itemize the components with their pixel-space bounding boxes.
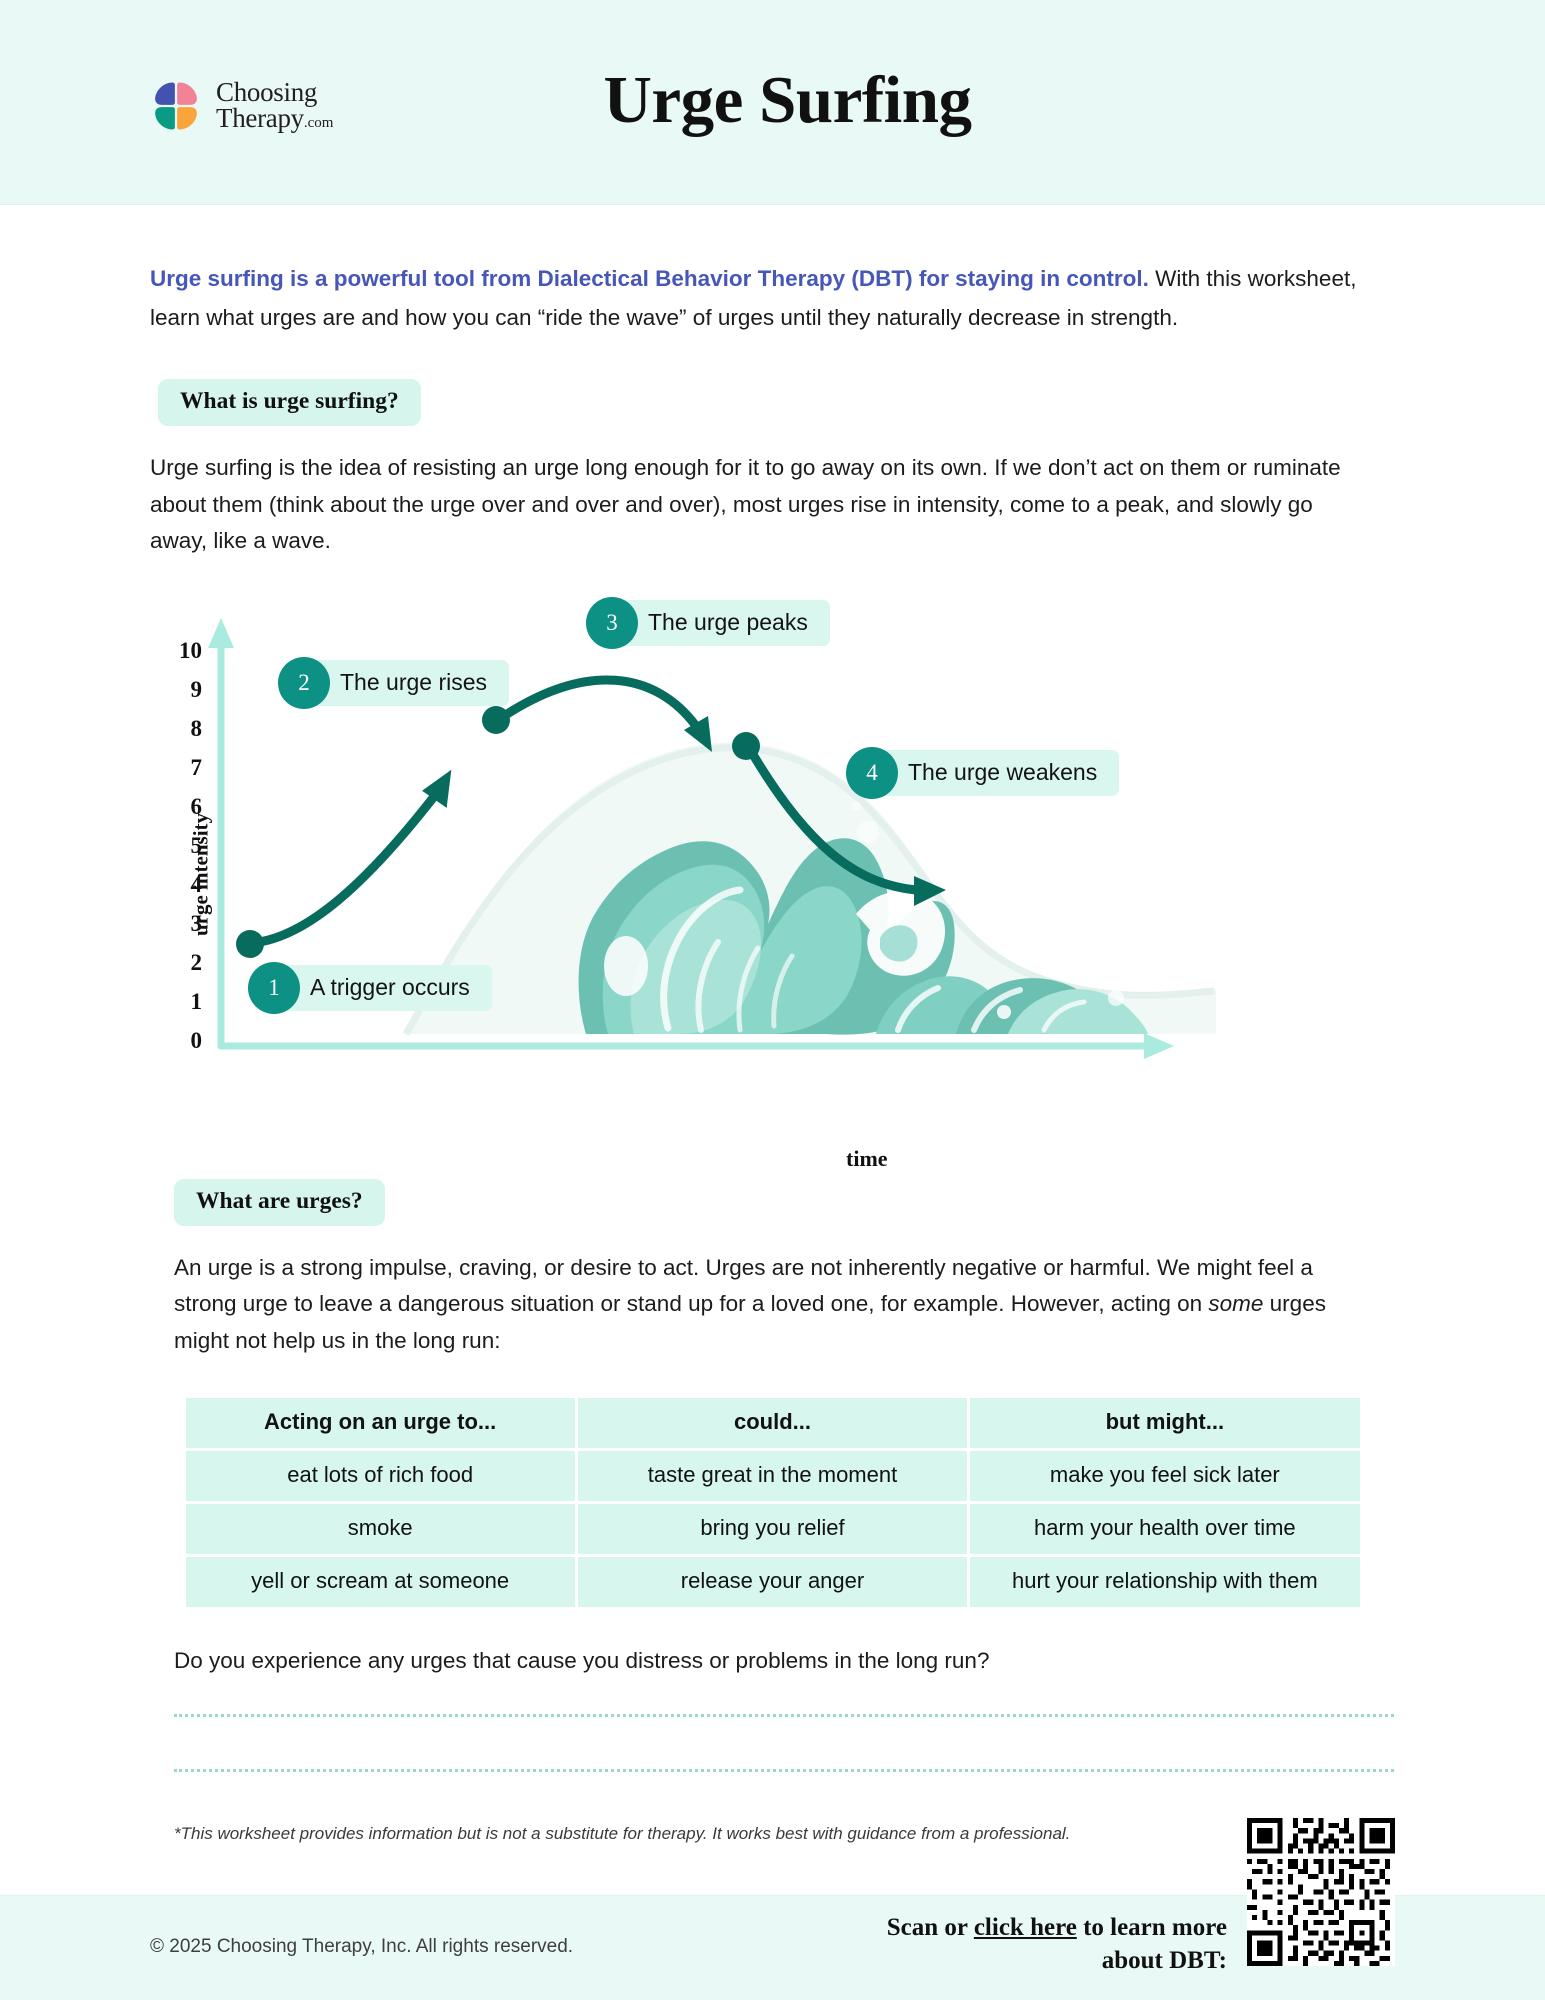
table-cell: smoke xyxy=(186,1504,575,1554)
intro-paragraph: Urge surfing is a powerful tool from Dia… xyxy=(150,260,1395,337)
urges-table: Acting on an urge to... could... but mig… xyxy=(183,1395,1363,1610)
table-row: smoke bring you relief harm your health … xyxy=(186,1504,1360,1554)
page-title: Urge Surfing xyxy=(0,62,1545,139)
x-axis-label: time xyxy=(846,1146,888,1172)
callout-step-3: 3 The urge peaks xyxy=(586,600,830,646)
write-line-1[interactable] xyxy=(174,1714,1394,1717)
step-badge-4: 4 xyxy=(846,747,898,799)
section1-body: Urge surfing is the idea of resisting an… xyxy=(150,450,1365,559)
qr-code[interactable] xyxy=(1247,1818,1395,1966)
table-cell: eat lots of rich food xyxy=(186,1451,575,1501)
table-cell: release your anger xyxy=(578,1557,967,1607)
y-tick-0: 0 xyxy=(166,1028,202,1054)
y-axis-label: urge intensity xyxy=(189,774,214,974)
table-cell: hurt your relationship with them xyxy=(970,1557,1359,1607)
callout-step-4: 4 The urge weakens xyxy=(846,750,1119,796)
step-label-2: The urge rises xyxy=(300,660,509,706)
scan-prefix: Scan or xyxy=(887,1914,974,1941)
section2-body: An urge is a strong impulse, craving, or… xyxy=(174,1250,1374,1359)
table-cell: harm your health over time xyxy=(970,1504,1359,1554)
trigger-point-dot xyxy=(236,930,264,958)
table-row: yell or scream at someone release your a… xyxy=(186,1557,1360,1607)
callout-step-2: 2 The urge rises xyxy=(278,660,509,706)
table-header-row: Acting on an urge to... could... but mig… xyxy=(186,1398,1360,1448)
rise-point-dot xyxy=(482,706,510,734)
callout-step-1: 1 A trigger occurs xyxy=(248,965,492,1011)
step-label-4: The urge weakens xyxy=(868,750,1119,796)
y-tick-1: 1 xyxy=(166,989,202,1015)
scan-suffix: about DBT: xyxy=(1102,1947,1227,1974)
write-in-lines[interactable] xyxy=(174,1714,1395,1772)
table-cell: make you feel sick later xyxy=(970,1451,1359,1501)
table-header-acting: Acting on an urge to... xyxy=(186,1398,575,1448)
y-tick-10: 10 xyxy=(166,638,202,664)
section-heading-what-are-urges: What are urges? xyxy=(174,1179,385,1226)
write-line-2[interactable] xyxy=(174,1769,1394,1772)
step-badge-3: 3 xyxy=(586,597,638,649)
intro-lead: Urge surfing is a powerful tool from Dia… xyxy=(150,266,1149,291)
step-label-3: The urge peaks xyxy=(608,600,830,646)
urge-curve-arrows xyxy=(252,794,436,943)
urge-wave-chart: 10 9 8 7 6 5 4 3 2 1 0 urge intensity ti… xyxy=(156,594,1395,1179)
step-badge-2: 2 xyxy=(278,657,330,709)
y-axis-arrowhead xyxy=(208,618,234,648)
scan-cta: Scan or click here to learn more about D… xyxy=(887,1912,1227,1977)
scan-middle: to learn more xyxy=(1077,1914,1227,1941)
table-header-but-might: but might... xyxy=(970,1398,1359,1448)
click-here-link[interactable]: click here xyxy=(974,1914,1077,1941)
disclaimer-text: *This worksheet provides information but… xyxy=(174,1824,1264,1844)
table-header-could: could... xyxy=(578,1398,967,1448)
step-badge-1: 1 xyxy=(248,962,300,1014)
reflection-question: Do you experience any urges that cause y… xyxy=(174,1648,1395,1674)
table-cell: yell or scream at someone xyxy=(186,1557,575,1607)
table-cell: bring you relief xyxy=(578,1504,967,1554)
peak-point-dot xyxy=(732,732,760,760)
y-tick-8: 8 xyxy=(166,716,202,742)
y-tick-9: 9 xyxy=(166,677,202,703)
section-heading-what-is-urge-surfing: What is urge surfing? xyxy=(158,379,421,426)
section2-body-italic: some xyxy=(1208,1291,1263,1316)
step-label-1: A trigger occurs xyxy=(270,965,492,1011)
x-axis-arrowhead xyxy=(1144,1033,1174,1059)
copyright-text: © 2025 Choosing Therapy, Inc. All rights… xyxy=(150,1936,573,1958)
table-row: eat lots of rich food taste great in the… xyxy=(186,1451,1360,1501)
table-cell: taste great in the moment xyxy=(578,1451,967,1501)
page-header: Choosing Therapy.com Urge Surfing xyxy=(0,0,1545,205)
worksheet-body: Urge surfing is a powerful tool from Dia… xyxy=(0,260,1545,1844)
section2-body-part1: An urge is a strong impulse, craving, or… xyxy=(174,1255,1313,1316)
